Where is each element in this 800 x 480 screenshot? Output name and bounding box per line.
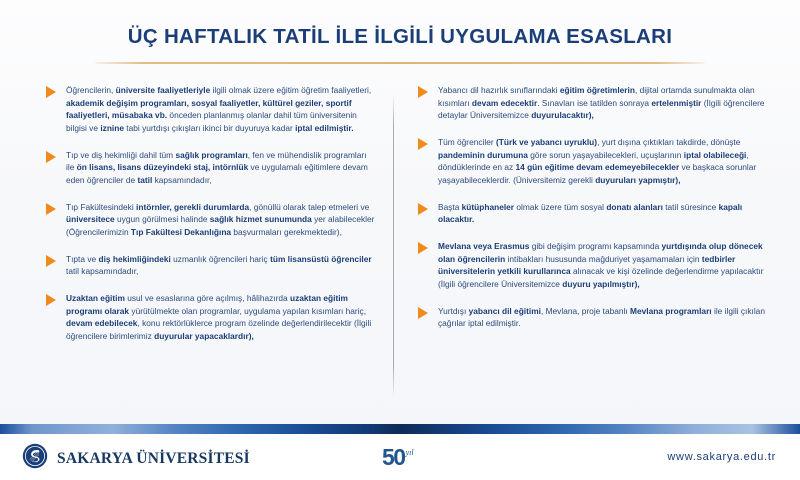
list-item-text: Uzaktan eğitim usul ve esaslarına göre a… bbox=[66, 292, 376, 343]
website-url: www.sakarya.edu.tr bbox=[667, 451, 776, 463]
page-title: ÜÇ HAFTALIK TATİL İLE İLGİLİ UYGULAMA ES… bbox=[0, 26, 800, 49]
arrow-right-icon bbox=[46, 294, 56, 306]
left-column: Öğrencilerin, üniversite faaliyetleriyle… bbox=[0, 84, 392, 343]
list-item-text: Tıp Fakültesindeki intörnler, gerekli du… bbox=[66, 201, 376, 239]
list-item: Öğrencilerin, üniversite faaliyetleriyle… bbox=[46, 84, 376, 135]
anniversary-number: 50 bbox=[382, 446, 405, 469]
list-item: Uzaktan eğitim usul ve esaslarına göre a… bbox=[46, 292, 376, 343]
list-item-text: Öğrencilerin, üniversite faaliyetleriyle… bbox=[66, 84, 376, 135]
brand-lockup: SAKARYA ÜNİVERSİTESİ bbox=[22, 443, 250, 474]
list-item: Yabancı dil hazırlık sınıflarındaki eğit… bbox=[418, 84, 768, 122]
poster-root: ÜÇ HAFTALIK TATİL İLE İLGİLİ UYGULAMA ES… bbox=[0, 0, 800, 480]
arrow-right-icon bbox=[46, 86, 56, 98]
arrow-right-icon bbox=[46, 203, 56, 215]
arrow-right-icon bbox=[418, 86, 428, 98]
arrow-right-icon bbox=[418, 203, 428, 215]
sakarya-logo-icon bbox=[22, 443, 48, 474]
poster-header: ÜÇ HAFTALIK TATİL İLE İLGİLİ UYGULAMA ES… bbox=[0, 0, 800, 64]
footer-body: SAKARYA ÜNİVERSİTESİ 50 yıl www.sakarya.… bbox=[0, 434, 800, 480]
list-item: Tıpta ve diş hekimliğindeki uzmanlık öğr… bbox=[46, 253, 376, 278]
anniversary-mark: 50 yıl bbox=[382, 446, 414, 469]
list-item-text: Tüm öğrenciler (Türk ve yabancı uyruklu)… bbox=[438, 136, 768, 187]
footer-gradient-bar bbox=[0, 424, 800, 434]
arrow-right-icon bbox=[46, 255, 56, 267]
arrow-right-icon bbox=[418, 307, 428, 319]
list-item-text: Tıpta ve diş hekimliğindeki uzmanlık öğr… bbox=[66, 253, 376, 278]
list-item: Mevlana veya Erasmus gibi değişim progra… bbox=[418, 240, 768, 291]
list-item-text: Tıp ve diş hekimliği dahil tüm sağlık pr… bbox=[66, 149, 376, 187]
list-item-text: Yabancı dil hazırlık sınıflarındaki eğit… bbox=[438, 84, 768, 122]
content-columns: Öğrencilerin, üniversite faaliyetleriyle… bbox=[0, 84, 800, 343]
brand-name: SAKARYA ÜNİVERSİTESİ bbox=[57, 450, 250, 468]
title-underline-rule bbox=[95, 62, 705, 64]
list-item: Tıp ve diş hekimliği dahil tüm sağlık pr… bbox=[46, 149, 376, 187]
arrow-right-icon bbox=[46, 151, 56, 163]
list-item: Başta kütüphaneler olmak üzere tüm sosya… bbox=[418, 201, 768, 226]
anniversary-suffix: yıl bbox=[406, 448, 414, 457]
arrow-right-icon bbox=[418, 242, 428, 254]
arrow-right-icon bbox=[418, 138, 428, 150]
list-item: Tıp Fakültesindeki intörnler, gerekli du… bbox=[46, 201, 376, 239]
list-item-text: Başta kütüphaneler olmak üzere tüm sosya… bbox=[438, 201, 768, 226]
right-column: Yabancı dil hazırlık sınıflarındaki eğit… bbox=[392, 84, 800, 330]
list-item-text: Yurtdışı yabancı dil eğitimi, Mevlana, p… bbox=[438, 305, 768, 330]
poster-footer: SAKARYA ÜNİVERSİTESİ 50 yıl www.sakarya.… bbox=[0, 424, 800, 480]
list-item-text: Mevlana veya Erasmus gibi değişim progra… bbox=[438, 240, 768, 291]
list-item: Tüm öğrenciler (Türk ve yabancı uyruklu)… bbox=[418, 136, 768, 187]
list-item: Yurtdışı yabancı dil eğitimi, Mevlana, p… bbox=[418, 305, 768, 330]
